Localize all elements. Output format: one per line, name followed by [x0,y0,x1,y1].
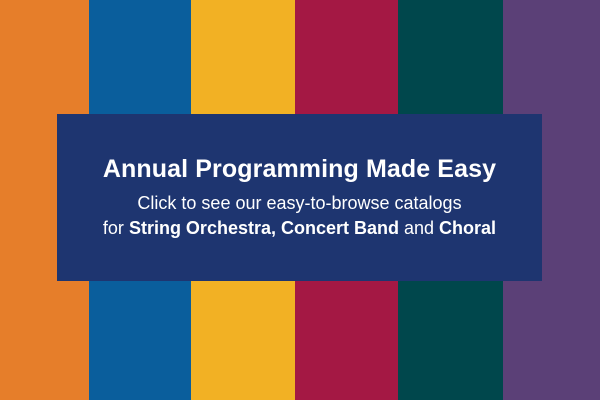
banner-heading: Annual Programming Made Easy [103,155,496,183]
banner-subtitle-line-1: Click to see our easy-to-browse catalogs [137,192,461,215]
ensemble-names-secondary: Choral [439,218,496,238]
subtitle-lead-text: for [103,218,129,238]
banner-subtitle-line-2: for String Orchestra, Concert Band and C… [103,217,496,240]
ensemble-names-primary: String Orchestra, Concert Band [129,218,399,238]
promo-banner[interactable]: Annual Programming Made Easy Click to se… [0,0,600,400]
callout-panel[interactable]: Annual Programming Made Easy Click to se… [57,114,542,281]
subtitle-connector-text: and [399,218,439,238]
